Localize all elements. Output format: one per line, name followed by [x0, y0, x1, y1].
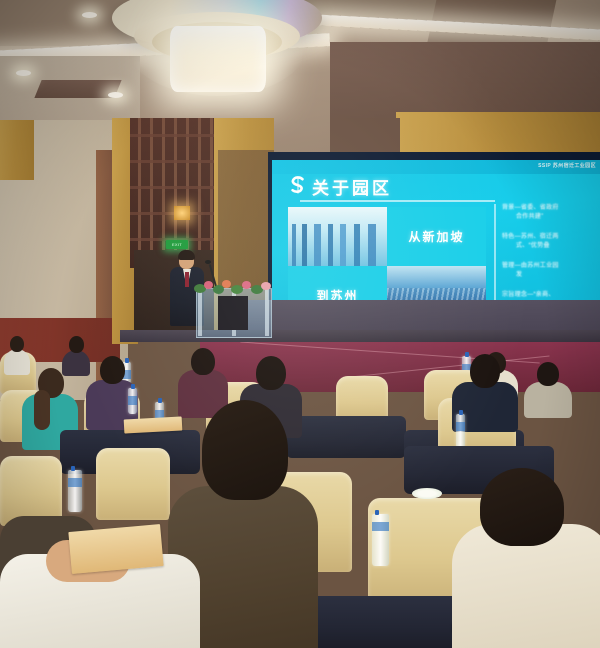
- downlight-icon: [16, 70, 31, 76]
- paper-handout: [68, 524, 163, 574]
- slide-logo-icon: [288, 174, 307, 195]
- chandelier-drum-shade: [170, 26, 266, 92]
- ceiling-trim-gold: [396, 112, 600, 152]
- ceiling-soffit-right: [330, 42, 600, 118]
- stage-front-edge: [120, 330, 600, 342]
- water-bottle: [372, 514, 389, 566]
- small-plate: [412, 488, 442, 499]
- slide-brand-text: SSIP 苏州宿迁工业园区: [538, 162, 596, 169]
- slide-bullet-4: 宗旨理念—“亲商、: [502, 291, 600, 300]
- podium-flower-arrangement: [192, 278, 276, 296]
- attendee-navy: [524, 362, 572, 414]
- downlight-icon: [82, 12, 97, 18]
- slide-title-underline: [300, 200, 495, 202]
- podium-dark-insert: [218, 296, 248, 330]
- attendee-ponytail: [34, 390, 50, 430]
- exit-sign-label: EXIT: [172, 242, 182, 247]
- exit-sign: EXIT: [166, 240, 188, 249]
- slide-label-from-singapore: 从新加坡: [387, 207, 486, 266]
- slide-photo-city-skyline: [288, 207, 387, 266]
- slide-bullet-2: 特色—苏州、宿迁两 式、“优势叠: [502, 233, 600, 251]
- speaker-tie: [185, 272, 189, 287]
- ceiling-trim-dark: [330, 118, 400, 154]
- microphone-head-icon: [205, 260, 211, 264]
- slide-bullet-3: 管理—由苏州工业园 发: [502, 262, 600, 280]
- water-bottle: [128, 388, 137, 414]
- attendee-foreground-white: [0, 520, 200, 648]
- slide-title: 关于园区: [312, 174, 392, 199]
- attendee-white-shirt: [4, 336, 30, 370]
- chandelier: [112, 0, 322, 98]
- speaker-hair: [178, 250, 195, 260]
- wall-gold-topleft: [0, 120, 34, 180]
- conference-hall-photo: EXIT SSIP 苏州宿迁工业园区 关于园区 从新加坡 到苏州: [0, 0, 600, 648]
- wall-accent-lamp: [174, 206, 190, 220]
- water-bottle: [456, 414, 465, 448]
- attendee-foreground-beige: [452, 468, 600, 648]
- slide-bullet-1: 背景—省委、省政府 合作共建”: [502, 204, 600, 222]
- chair-front-2: [96, 448, 170, 520]
